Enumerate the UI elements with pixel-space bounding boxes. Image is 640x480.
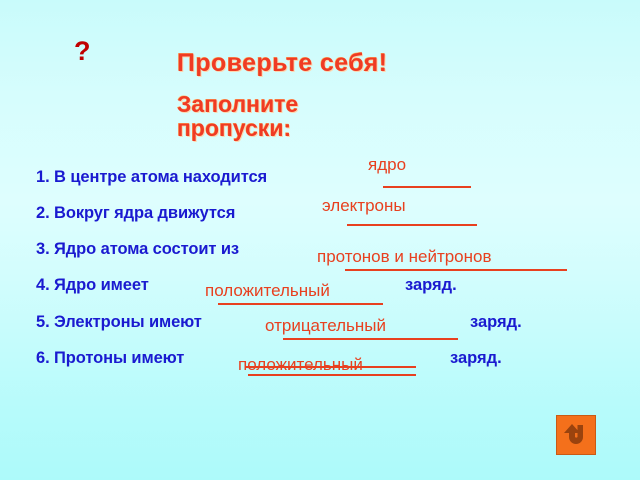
answer-text-4: положительный: [205, 281, 330, 301]
answer-underline-6: [248, 374, 416, 376]
page-subtitle: Заполните пропуски:: [177, 92, 367, 140]
u-turn-arrow-icon: [557, 416, 595, 454]
question-tail-6: заряд.: [450, 349, 502, 368]
answer-underline-4: [218, 303, 383, 305]
question-tail-5: заряд.: [470, 313, 522, 332]
answer-text-6: положительный: [238, 355, 363, 375]
question-prompt-1: 1. В центре атома находится: [36, 168, 267, 187]
question-prompt-3: 3. Ядро атома состоит из: [36, 240, 239, 259]
question-mark-decoration: ?: [74, 38, 91, 65]
return-button[interactable]: [556, 415, 596, 455]
question-prompt-5: 5. Электроны имеют: [36, 313, 202, 332]
question-tail-4: заряд.: [405, 276, 457, 295]
answer-text-2: электроны: [322, 196, 406, 216]
answer-underline-1: [383, 186, 471, 188]
question-prompt-2: 2. Вокруг ядра движутся: [36, 204, 235, 223]
slide-canvas: ? Проверьте себя! Заполните пропуски: 1.…: [0, 0, 640, 480]
answer-underline-5: [283, 338, 458, 340]
answer-text-5: отрицательный: [265, 316, 386, 336]
answer-underline-2: [347, 224, 477, 226]
answer-text-3: протонов и нейтронов: [317, 247, 492, 267]
page-title: Проверьте себя!: [177, 49, 388, 78]
question-prompt-6: 6. Протоны имеют: [36, 349, 184, 368]
answer-text-1: ядро: [368, 155, 406, 175]
answer-underline-3: [345, 269, 567, 271]
question-prompt-4: 4. Ядро имеет: [36, 276, 149, 295]
answer-strikethrough-6: [246, 366, 416, 368]
